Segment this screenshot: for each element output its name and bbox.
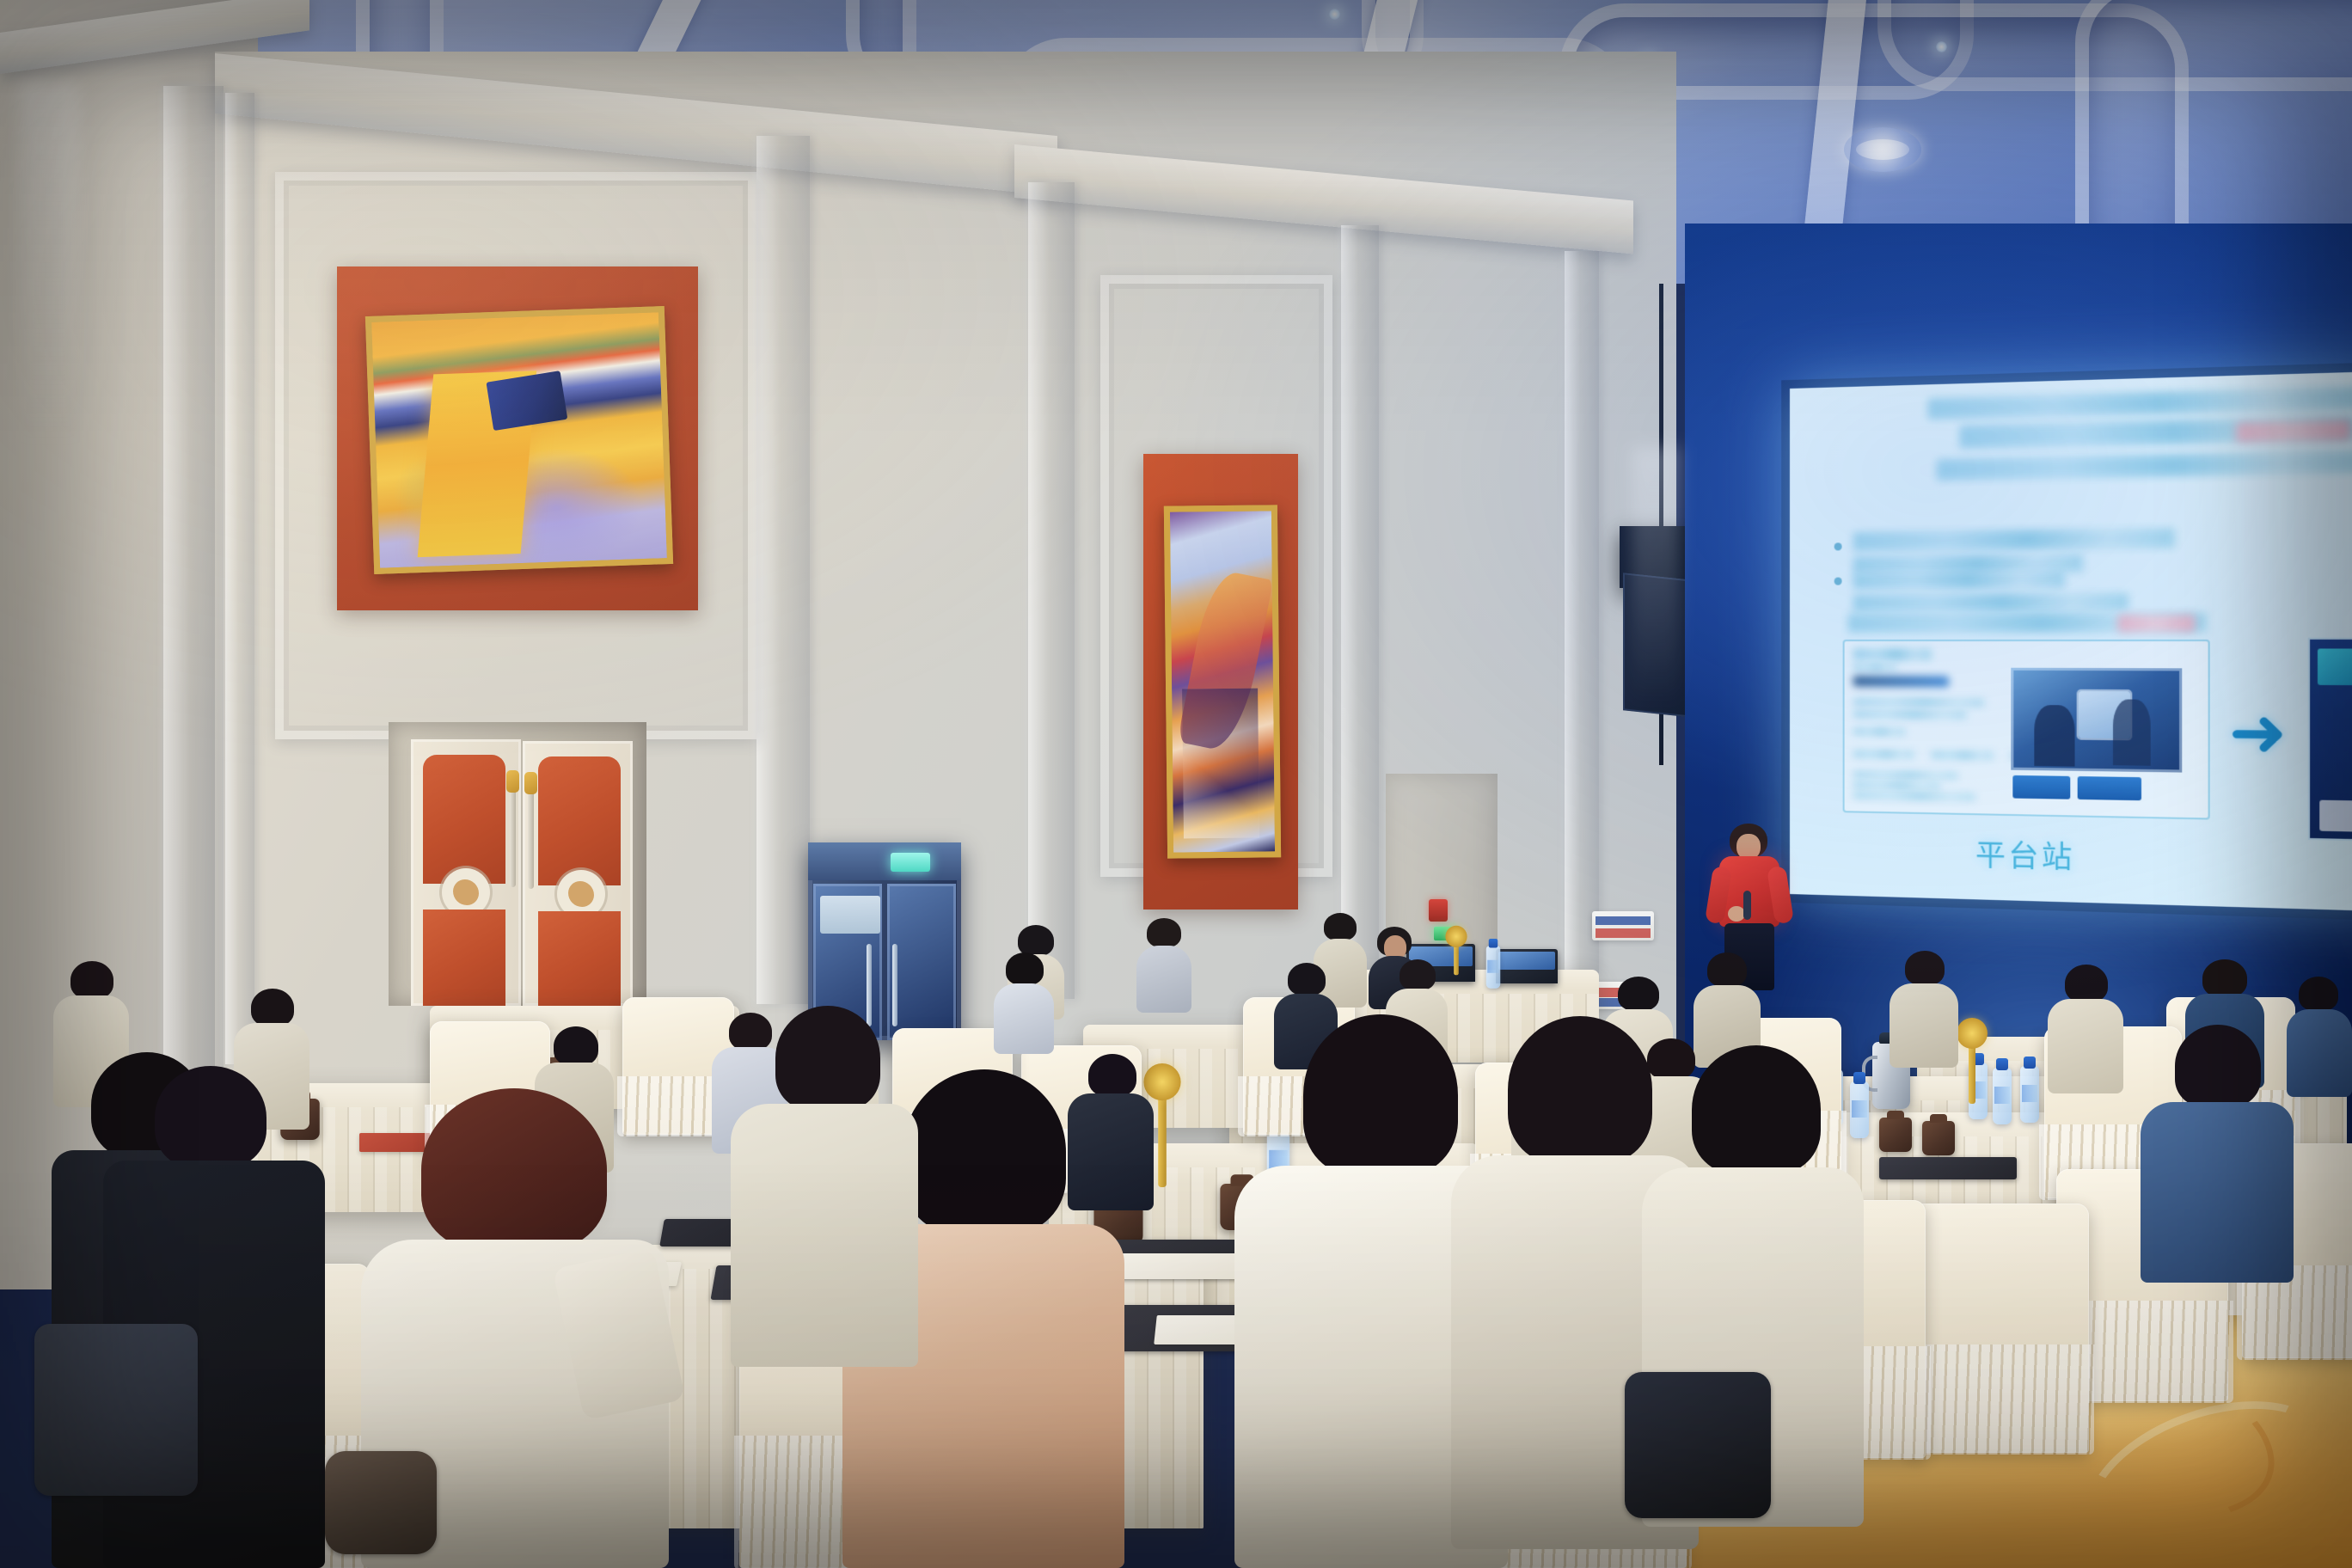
- audience-member: [1888, 951, 1960, 1068]
- table-number-stand: [1454, 944, 1459, 975]
- slide-bullet-blur: [1853, 528, 2175, 551]
- door-leaf-right[interactable]: [523, 741, 633, 1006]
- slide-product-card: [1843, 640, 2210, 820]
- slide-heading-blur: [2236, 420, 2350, 442]
- wall-art-abstract-vertical: [1164, 505, 1281, 858]
- card-line-blur: [1853, 698, 1985, 706]
- door-leaf-left[interactable]: [411, 739, 521, 1006]
- wall-pilaster: [1565, 251, 1599, 973]
- wall-pilaster: [756, 136, 810, 1004]
- ceiling-rosette: [1844, 127, 1921, 172]
- slide-phone-mock: [2310, 640, 2352, 841]
- card-button-primary[interactable]: [2012, 775, 2070, 799]
- teapot[interactable]: [1922, 1121, 1955, 1155]
- water-bottle[interactable]: [2020, 1066, 2039, 1123]
- slide-heading-blur: [1928, 387, 2352, 420]
- wall-pilaster: [1341, 225, 1379, 982]
- desk-pad: [1879, 1157, 2017, 1179]
- card-sub-blur: [1853, 664, 1896, 671]
- card-feature-blur: [1853, 771, 1958, 779]
- card-feature-blur: [1853, 792, 1975, 800]
- flow-arrow-icon: ➜: [2228, 699, 2287, 767]
- tote-bag: [1625, 1372, 1771, 1518]
- presenter-hand: [1728, 906, 1745, 922]
- phone-banner-a: [2318, 648, 2352, 685]
- slide-bullet-marker: [1834, 542, 1842, 550]
- wall-pilaster: [225, 93, 254, 1064]
- wall-sign-upper: [1592, 911, 1654, 940]
- door-panel: [423, 910, 505, 1006]
- presenter-microphone: [1743, 891, 1751, 920]
- audience-member: [2046, 965, 2125, 1093]
- card-badge-blur: [1853, 676, 1949, 687]
- door-handle[interactable]: [528, 786, 534, 889]
- teapot[interactable]: [1879, 1118, 1912, 1152]
- door-panel: [423, 755, 505, 884]
- painting-canvas: [371, 312, 667, 567]
- card-title-blur: [1853, 648, 1932, 660]
- audience-member-foreground: [731, 1006, 920, 1367]
- cabinet-display: [891, 853, 930, 872]
- slide-heading-blur: [1937, 450, 2352, 481]
- card-line-blur: [1853, 711, 1967, 719]
- door-handle[interactable]: [510, 784, 516, 887]
- door-panel: [538, 756, 621, 885]
- audience-member: [1135, 918, 1193, 1013]
- card-spec-blur: [1932, 751, 1994, 759]
- water-bottle[interactable]: [1486, 946, 1501, 989]
- audience-member: [2287, 977, 2352, 1097]
- audience-member: [992, 952, 1056, 1054]
- projection-screen: ➜ 平台站: [1790, 371, 2352, 912]
- slide-caption: 平台站: [1975, 831, 2075, 877]
- card-feature-blur: [1853, 781, 1940, 789]
- backpack: [34, 1324, 198, 1496]
- slide-bullet-blur: [1853, 593, 2128, 612]
- ceiling-downlight: [1936, 41, 1947, 52]
- card-line-blur: [1853, 728, 1905, 736]
- painting-canvas: [1170, 511, 1275, 852]
- table-number-stand: [1158, 1094, 1167, 1187]
- wall-pilaster: [1028, 182, 1075, 999]
- card-button-secondary[interactable]: [2078, 776, 2141, 800]
- audience-member: [2141, 1025, 2295, 1283]
- conference-hall-photo: ➜ 平台站: [0, 0, 2352, 1568]
- card-spec-blur: [1853, 750, 1914, 758]
- table-number-stand: [1969, 1044, 1975, 1104]
- slide-bullet-marker: [1834, 578, 1842, 585]
- laptop-screen: [1498, 952, 1555, 970]
- cabinet-header: [808, 842, 961, 880]
- cabinet-label: [820, 896, 880, 934]
- wall-art-abstract-landscape: [365, 306, 673, 574]
- phone-footer: [2319, 800, 2352, 834]
- wall-light-beam: [19, 83, 79, 444]
- fire-alarm-icon: [1429, 899, 1448, 922]
- door-panel: [538, 911, 621, 1006]
- water-bottle[interactable]: [1993, 1068, 2012, 1124]
- card-photo: [2011, 668, 2182, 773]
- wall-pilaster: [163, 86, 224, 1075]
- slide-bullet-blur: [2117, 615, 2195, 633]
- handbag: [325, 1451, 437, 1554]
- banquet-chair[interactable]: [1908, 1204, 2089, 1453]
- wall-light-beam: [1632, 447, 1680, 705]
- card-monitor-graphic: [2079, 690, 2130, 738]
- slide-bullet-blur: [1853, 570, 2065, 589]
- operator-laptop-2[interactable]: [1496, 949, 1558, 983]
- ceiling-downlight: [1329, 9, 1340, 20]
